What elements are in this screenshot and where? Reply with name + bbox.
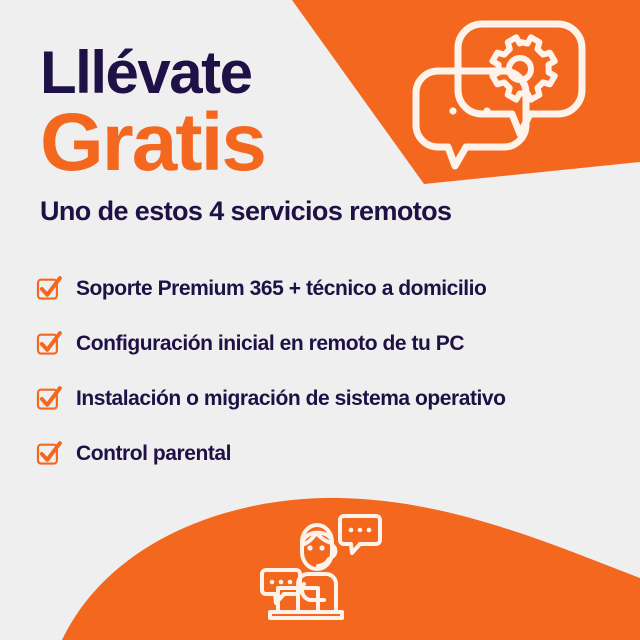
headline-block: Lllévate Gratis xyxy=(40,44,265,180)
laptop-base xyxy=(270,612,342,618)
checkbox-checked-icon[interactable] xyxy=(36,330,63,357)
bubble-bottom-dot-1 xyxy=(270,580,275,585)
feature-label: Soporte Premium 365 + técnico a domicili… xyxy=(76,277,486,301)
checkbox-checked-icon[interactable] xyxy=(36,385,63,412)
agent-eye-left xyxy=(307,545,312,550)
bubble-dot-1 xyxy=(449,107,456,114)
bubble-top-dot-2 xyxy=(358,528,363,533)
bubble-top-dot-3 xyxy=(367,528,372,533)
feature-item[interactable]: Configuración inicial en remoto de tu PC xyxy=(36,327,506,361)
feature-label: Control parental xyxy=(76,442,231,466)
feature-label: Instalación o migración de sistema opera… xyxy=(76,387,506,411)
headline-line-2: Gratis xyxy=(40,105,265,180)
chat-bubbles-gear-icon xyxy=(408,14,588,179)
feature-item[interactable]: Control parental xyxy=(36,437,506,471)
subtitle: Uno de estos 4 servicios remotos xyxy=(40,196,451,227)
feature-item[interactable]: Soporte Premium 365 + técnico a domicili… xyxy=(36,272,506,306)
features-list: Soporte Premium 365 + técnico a domicili… xyxy=(36,272,506,492)
promo-poster: Lllévate Gratis Uno de estos 4 servicios… xyxy=(0,0,640,640)
speech-bubble-top xyxy=(340,516,380,553)
bubble-top-dot-1 xyxy=(349,528,354,533)
checkbox-checked-icon[interactable] xyxy=(36,275,63,302)
bubble-bottom-dot-2 xyxy=(279,580,284,585)
feature-label: Configuración inicial en remoto de tu PC xyxy=(76,332,464,356)
support-agent-laptop-icon xyxy=(258,512,386,624)
agent-hair xyxy=(302,533,332,545)
feature-item[interactable]: Instalación o migración de sistema opera… xyxy=(36,382,506,416)
headline-line-1: Lllévate xyxy=(40,44,265,103)
bubble-bottom-dot-3 xyxy=(288,580,293,585)
checkbox-checked-icon[interactable] xyxy=(36,440,63,467)
agent-eye-right xyxy=(319,545,324,550)
